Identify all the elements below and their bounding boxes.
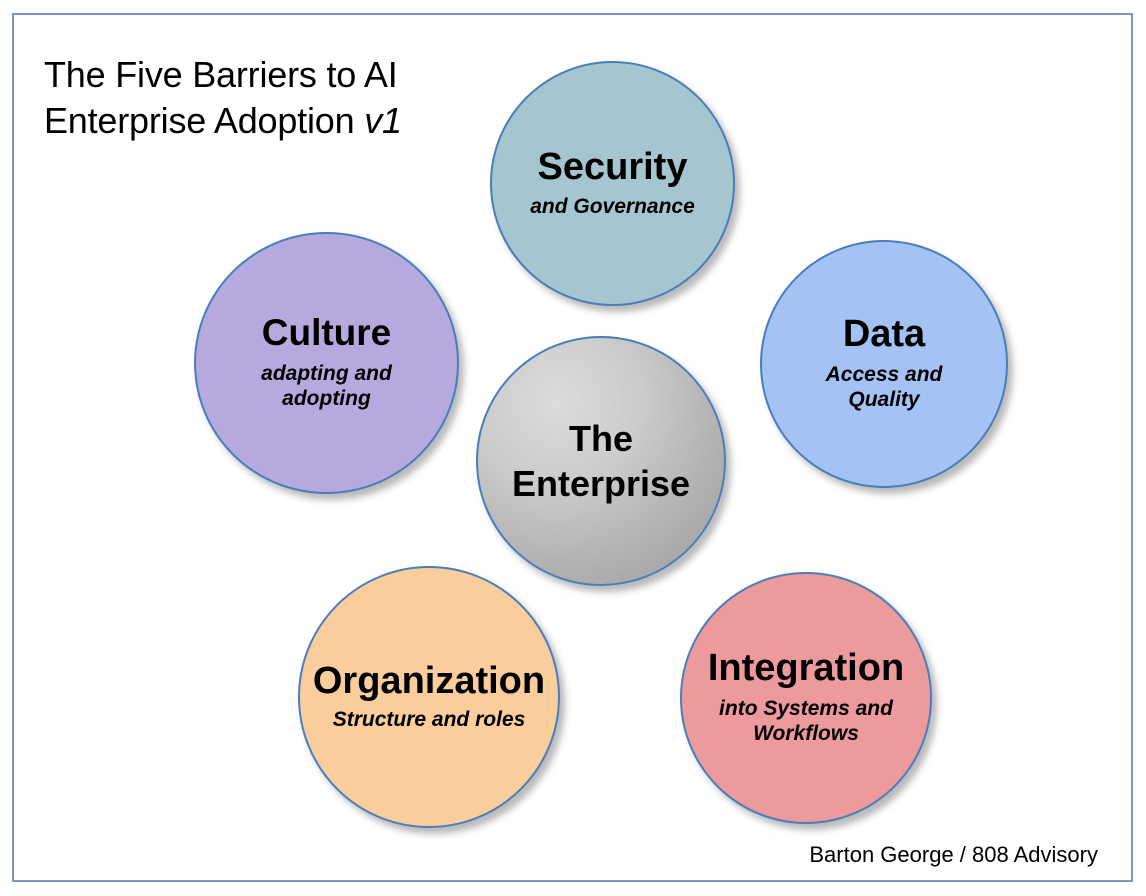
barrier-subtitle-culture-line-2: adopting: [261, 386, 392, 411]
barrier-circle-culture[interactable]: Culture adapting and adopting: [194, 232, 459, 494]
barrier-subtitle-data: Access and Quality: [826, 362, 943, 412]
barrier-title-data: Data: [843, 315, 925, 355]
center-label-line-2: Enterprise: [495, 461, 707, 506]
barrier-circle-security[interactable]: Security and Governance: [490, 61, 735, 306]
barrier-subtitle-security: and Governance: [530, 195, 695, 220]
barrier-circle-data[interactable]: Data Access and Quality: [760, 240, 1008, 488]
barrier-subtitle-integration-line-1: into Systems and: [719, 696, 893, 721]
barrier-subtitle-integration: into Systems and Workflows: [719, 696, 893, 746]
barrier-subtitle-organization: Structure and roles: [333, 708, 526, 733]
page-title-line-2: Enterprise Adoption: [44, 100, 364, 141]
page-title-version: v1: [364, 100, 402, 141]
barrier-title-security: Security: [538, 148, 688, 188]
page-title: The Five Barriers to AI Enterprise Adopt…: [44, 52, 514, 144]
barrier-circle-integration[interactable]: Integration into Systems and Workflows: [680, 572, 932, 824]
barrier-subtitle-culture-line-1: adapting and: [261, 361, 392, 386]
center-label-enterprise: The Enterprise: [495, 416, 707, 506]
barrier-title-organization: Organization: [313, 662, 545, 702]
barrier-title-integration: Integration: [708, 649, 904, 689]
center-label-line-1: The: [495, 416, 707, 461]
barrier-title-culture: Culture: [262, 314, 392, 353]
page-title-line-1: The Five Barriers to AI: [44, 54, 398, 95]
credit-line: Barton George / 808 Advisory: [809, 842, 1098, 868]
barrier-subtitle-culture: adapting and adopting: [261, 361, 392, 411]
barrier-subtitle-data-line-1: Access and: [826, 362, 943, 387]
barrier-subtitle-integration-line-2: Workflows: [719, 721, 893, 746]
barrier-subtitle-data-line-2: Quality: [826, 387, 943, 412]
center-circle-enterprise[interactable]: The Enterprise: [476, 336, 726, 586]
barrier-circle-organization[interactable]: Organization Structure and roles: [298, 566, 560, 828]
slide-canvas: The Five Barriers to AI Enterprise Adopt…: [0, 0, 1146, 896]
